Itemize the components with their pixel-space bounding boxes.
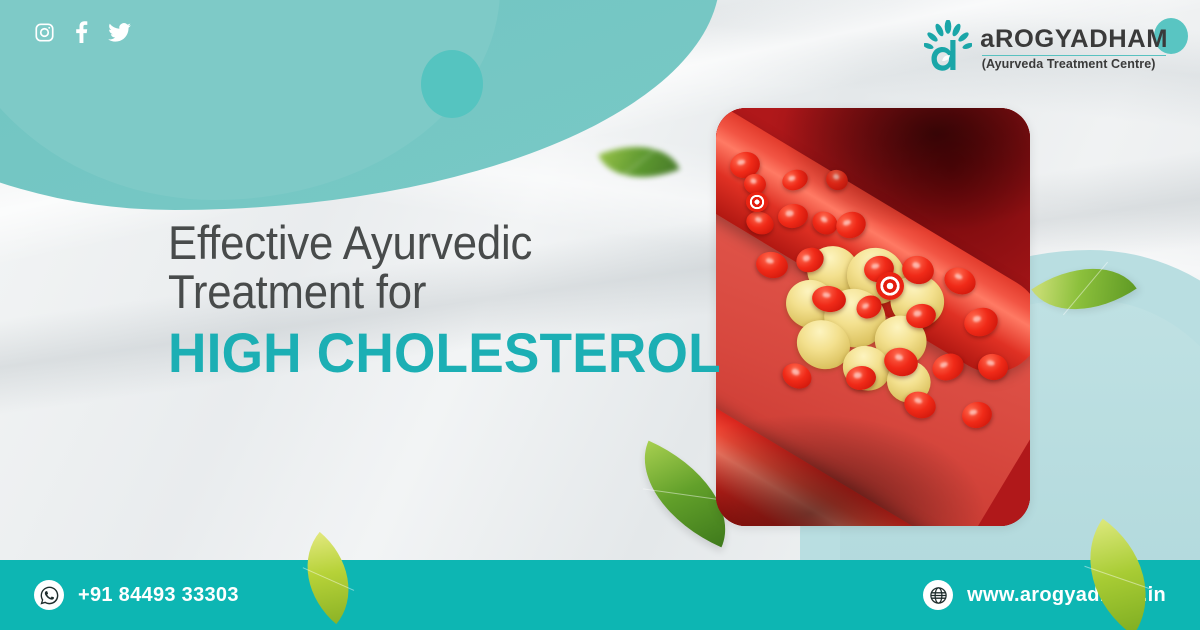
logo-tagline: (Ayurveda Treatment Centre) [982, 58, 1156, 72]
facebook-icon[interactable] [75, 21, 88, 43]
headline-line-1: Effective Ayurvedic [168, 218, 709, 267]
brand-logo[interactable]: arogyadham (Ayurveda Treatment Centre) [924, 20, 1166, 78]
globe-icon [923, 580, 953, 610]
instagram-icon[interactable] [34, 22, 55, 43]
phone-number: +91 84493 33303 [78, 584, 239, 607]
cholesterol-artery-image [716, 108, 1030, 526]
promo-banner: arogyadham (Ayurveda Treatment Centre) E… [0, 0, 1200, 630]
leaf-icon-blurred [598, 128, 679, 195]
logo-name-lead: a [980, 25, 995, 53]
headline-emphasis: HIGH CHOLESTEROL [168, 322, 721, 384]
social-links [34, 21, 131, 43]
contact-footer: +91 84493 33303 www.arogyadham.in [0, 560, 1200, 630]
twitter-icon[interactable] [108, 23, 131, 42]
headline-block: Effective Ayurvedic Treatment for HIGH C… [168, 218, 750, 384]
teal-circle-large [421, 50, 483, 118]
headline-line-2: Treatment for [168, 267, 709, 316]
logo-wordmark: arogyadham [980, 27, 1168, 52]
whatsapp-icon [34, 580, 64, 610]
logo-divider [982, 55, 1166, 56]
phone-contact[interactable]: +91 84493 33303 [34, 580, 239, 610]
logo-name-rest: rogyadham [995, 25, 1168, 53]
leaf-letter-a-icon [924, 20, 972, 78]
